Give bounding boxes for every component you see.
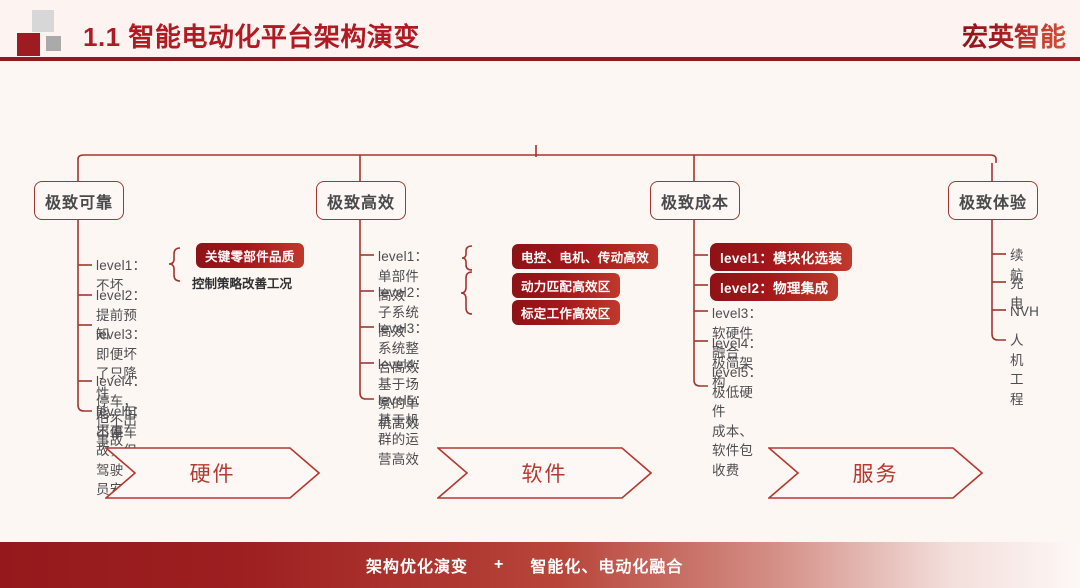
decoration-square-red: [17, 33, 40, 56]
list-item-badge[interactable]: level2：物理集成: [710, 273, 838, 301]
footer-right-text: 智能化、电动化融合: [530, 553, 683, 577]
footer-plus-sign: +: [494, 556, 504, 574]
list-item: level5：极低硬件 成本、软件包收费: [712, 363, 762, 480]
footer-text: 架构优化演变 + 智能化、电动化融合: [0, 542, 1080, 588]
list-item-badge[interactable]: level1：模块化选装: [710, 243, 852, 271]
category-box-cost[interactable]: 极致成本: [650, 181, 740, 220]
footer-left-text: 架构优化演变: [366, 553, 468, 577]
chevron-label: 软件: [437, 447, 652, 499]
list-item: 人机工程: [1010, 331, 1024, 409]
category-box-efficiency[interactable]: 极致高效: [316, 181, 406, 220]
category-box-experience[interactable]: 极致体验: [948, 181, 1038, 220]
brand-logo: 宏英智能: [962, 17, 1066, 54]
chevron-hardware[interactable]: 硬件: [105, 447, 320, 499]
annotation-badge[interactable]: 标定工作高效区: [512, 300, 620, 325]
annotation-badge[interactable]: 电控、电机、传动高效: [512, 244, 658, 269]
chevron-label: 服务: [768, 447, 983, 499]
chevron-label: 硬件: [105, 447, 320, 499]
annotation-badge[interactable]: 动力匹配高效区: [512, 273, 620, 298]
decoration-square-gray: [46, 36, 61, 51]
header-divider: [0, 57, 1080, 61]
list-item: level5：基于机群的运营高效: [378, 391, 428, 469]
chevron-service[interactable]: 服务: [768, 447, 983, 499]
annotation-badge[interactable]: 关键零部件品质: [196, 243, 304, 268]
category-box-reliability[interactable]: 极致可靠: [34, 181, 124, 220]
decoration-square-light-gray: [32, 10, 54, 32]
page-footer: 架构优化演变 + 智能化、电动化融合: [0, 542, 1080, 588]
annotation-note: 控制策略改善工况: [192, 273, 292, 292]
list-item: NVH: [1010, 302, 1039, 322]
chevron-software[interactable]: 软件: [437, 447, 652, 499]
page-header: 1.1 智能电动化平台架构演变 宏英智能: [0, 0, 1080, 62]
page-title: 1.1 智能电动化平台架构演变: [83, 17, 420, 54]
